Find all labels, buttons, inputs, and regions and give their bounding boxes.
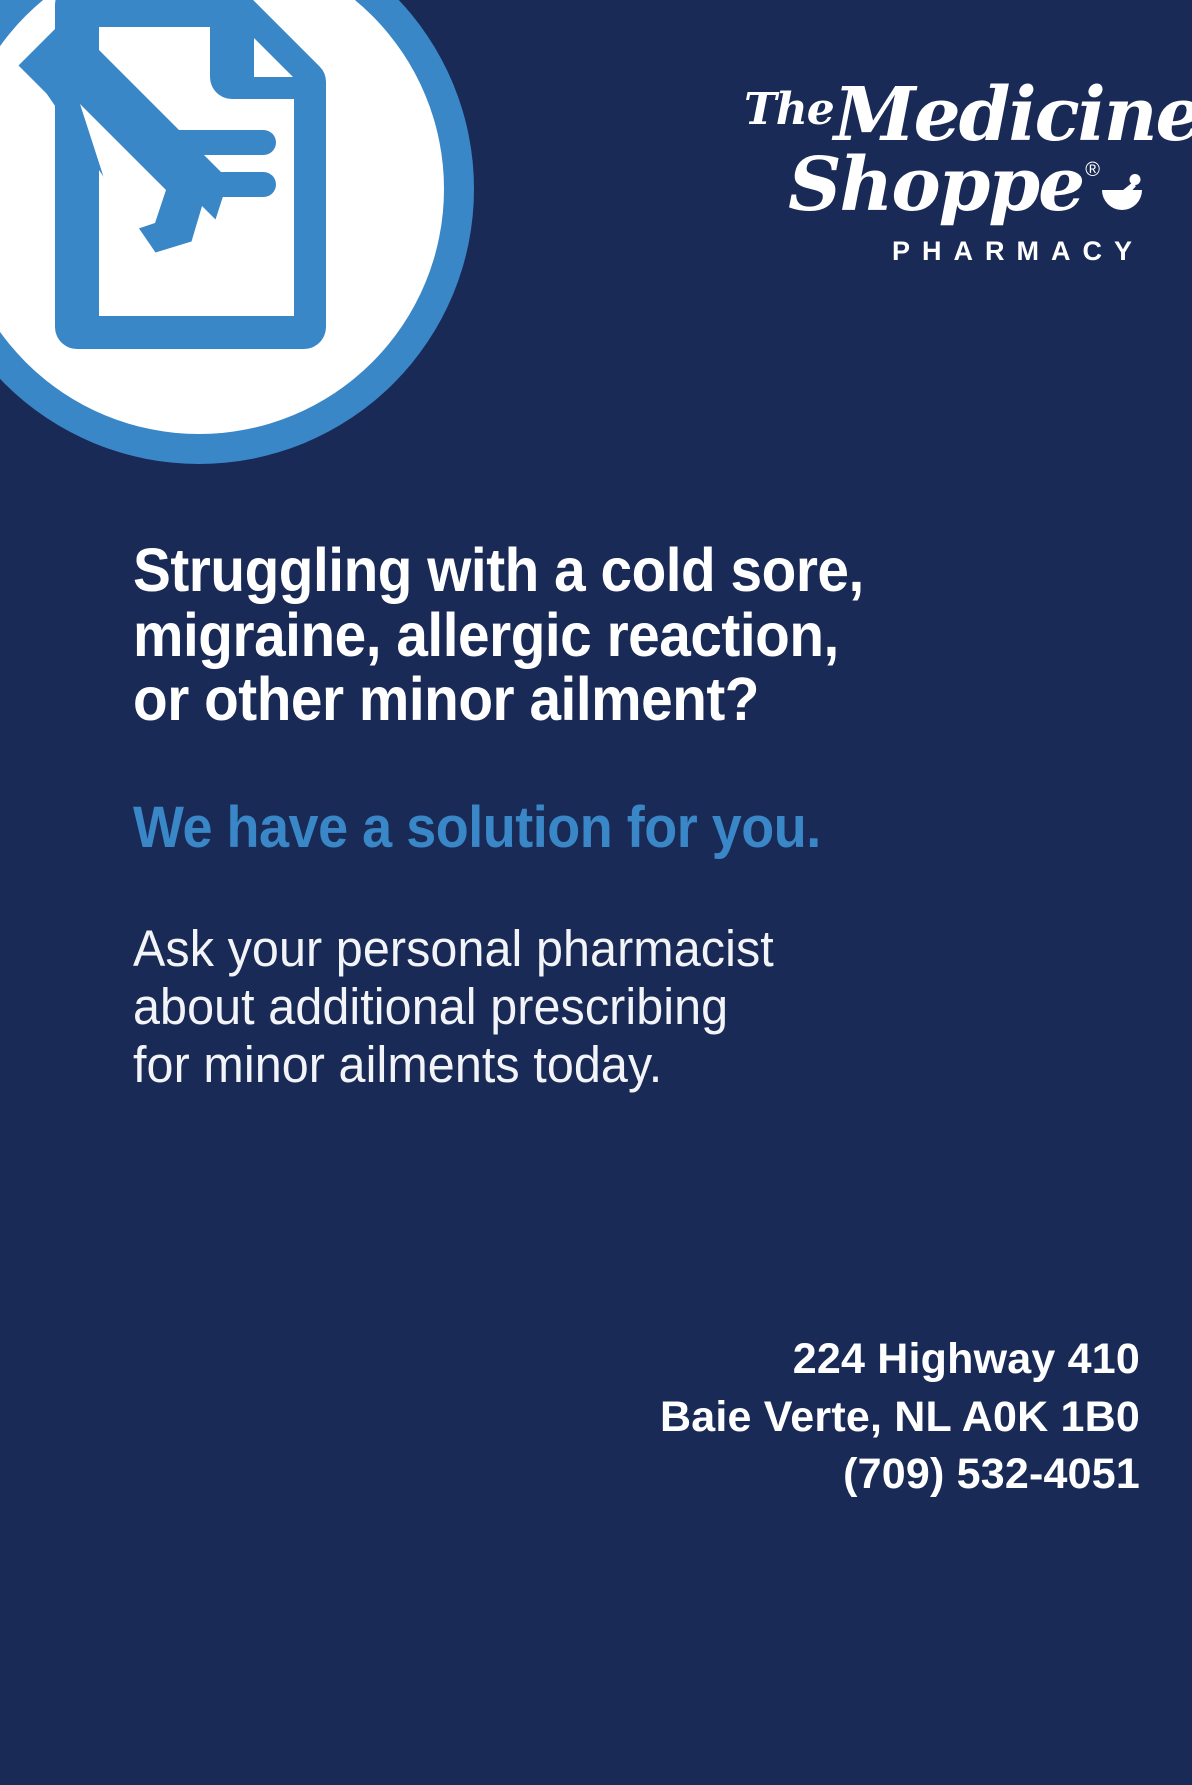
logo-line-medicine: TheMedicine bbox=[744, 78, 1144, 152]
headline-line-1: Struggling with a cold sore, bbox=[133, 538, 951, 603]
store-address-block: 224 Highway 410 Baie Verte, NL A0K 1B0 (… bbox=[660, 1331, 1140, 1503]
mortar-and-pestle-icon bbox=[1100, 174, 1144, 214]
body-copy-line-3: for minor ailments today. bbox=[133, 1036, 969, 1094]
prescription-badge bbox=[0, 0, 474, 464]
body-copy-line-2: about additional prescribing bbox=[133, 978, 969, 1036]
headline-line-2: migraine, allergic reaction, bbox=[133, 603, 951, 668]
poster-canvas: TheMedicine Shoppe® PHARMACY Struggling … bbox=[0, 0, 1192, 1785]
address-phone[interactable]: (709) 532-4051 bbox=[660, 1446, 1140, 1503]
headline: Struggling with a cold sore, migraine, a… bbox=[133, 538, 951, 732]
document-with-pencil-icon bbox=[0, 0, 416, 404]
medicine-shoppe-logo: TheMedicine Shoppe® PHARMACY bbox=[744, 78, 1144, 258]
logo-the-text: The bbox=[744, 84, 834, 135]
logo-pharmacy-text: PHARMACY bbox=[744, 236, 1144, 267]
address-city-province-postal: Baie Verte, NL A0K 1B0 bbox=[660, 1389, 1140, 1446]
message-block: Struggling with a cold sore, migraine, a… bbox=[133, 538, 1013, 1094]
logo-shoppe-text: Shoppe bbox=[788, 142, 1083, 228]
registered-trademark-icon: ® bbox=[1085, 159, 1098, 181]
subheadline: We have a solution for you. bbox=[133, 796, 951, 860]
body-copy-line-1: Ask your personal pharmacist bbox=[133, 920, 969, 978]
logo-line-shoppe: Shoppe® bbox=[744, 148, 1144, 222]
logo-wordmark: TheMedicine Shoppe® PHARMACY bbox=[744, 78, 1144, 258]
address-street: 224 Highway 410 bbox=[660, 1331, 1140, 1388]
headline-line-3: or other minor ailment? bbox=[133, 667, 951, 732]
body-copy: Ask your personal pharmacist about addit… bbox=[133, 920, 969, 1094]
